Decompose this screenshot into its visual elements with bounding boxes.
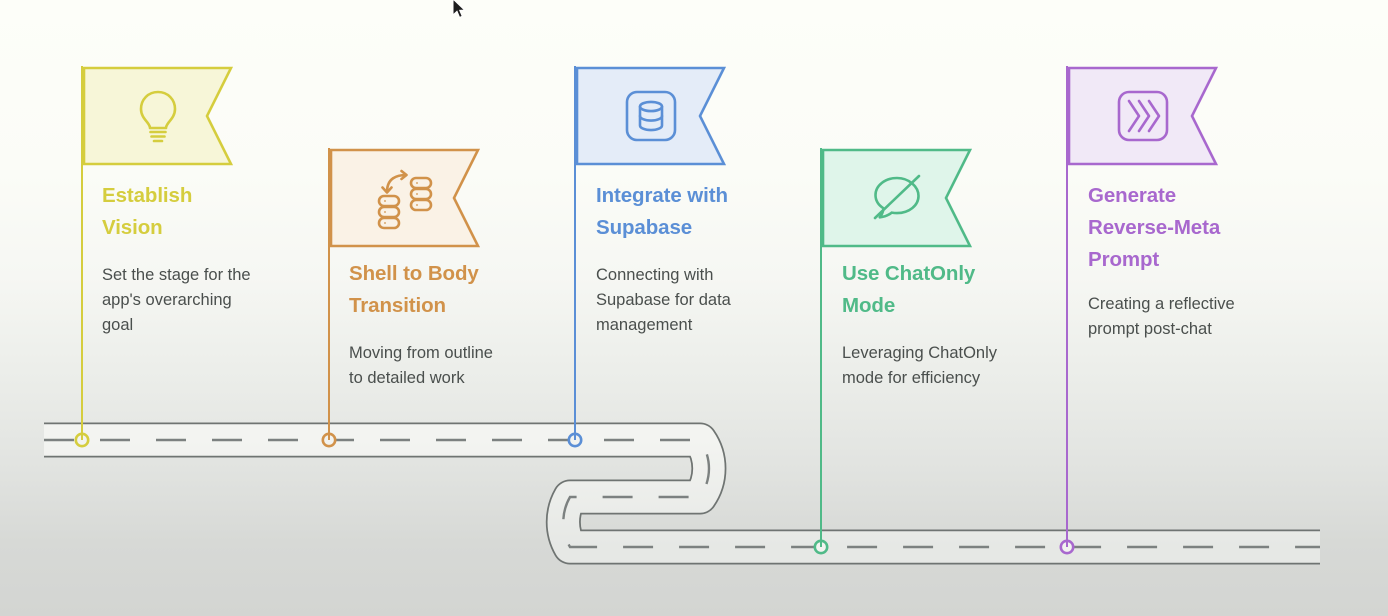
database-migration-icon bbox=[373, 166, 437, 230]
milestone-flag[interactable] bbox=[1068, 66, 1218, 166]
milestone-description: Connecting with Supabase for data manage… bbox=[596, 263, 796, 338]
milestone-flag[interactable] bbox=[83, 66, 233, 166]
flag-icon-holder bbox=[619, 84, 683, 148]
milestone-flag[interactable] bbox=[576, 66, 726, 166]
milestone-title: Generate Reverse-Meta Prompt bbox=[1088, 180, 1278, 276]
milestone-flag[interactable] bbox=[822, 148, 972, 248]
milestone-title: Shell to Body Transition bbox=[349, 258, 539, 322]
road-surface bbox=[44, 440, 1320, 547]
roadmap-diagram: Establish VisionSet the stage for the ap… bbox=[0, 0, 1388, 616]
milestone-flag[interactable] bbox=[330, 148, 480, 248]
chat-disabled-icon bbox=[865, 166, 929, 230]
milestone-title: Use ChatOnly Mode bbox=[842, 258, 1032, 322]
milestone-description: Moving from outline to detailed work bbox=[349, 341, 549, 391]
flag-icon-holder bbox=[373, 166, 437, 230]
flag-icon-holder bbox=[1111, 84, 1175, 148]
fast-forward-chevrons-icon bbox=[1111, 84, 1175, 148]
milestone-description: Creating a reflective prompt post-chat bbox=[1088, 292, 1288, 342]
milestone-title: Integrate with Supabase bbox=[596, 180, 786, 244]
flag-icon-holder bbox=[126, 84, 190, 148]
milestone-description: Leveraging ChatOnly mode for efficiency bbox=[842, 341, 1042, 391]
milestone-description: Set the stage for the app's overarching … bbox=[102, 263, 302, 338]
flag-icon-holder bbox=[865, 166, 929, 230]
database-icon bbox=[619, 84, 683, 148]
lightbulb-icon bbox=[126, 84, 190, 148]
milestone-title: Establish Vision bbox=[102, 180, 292, 244]
